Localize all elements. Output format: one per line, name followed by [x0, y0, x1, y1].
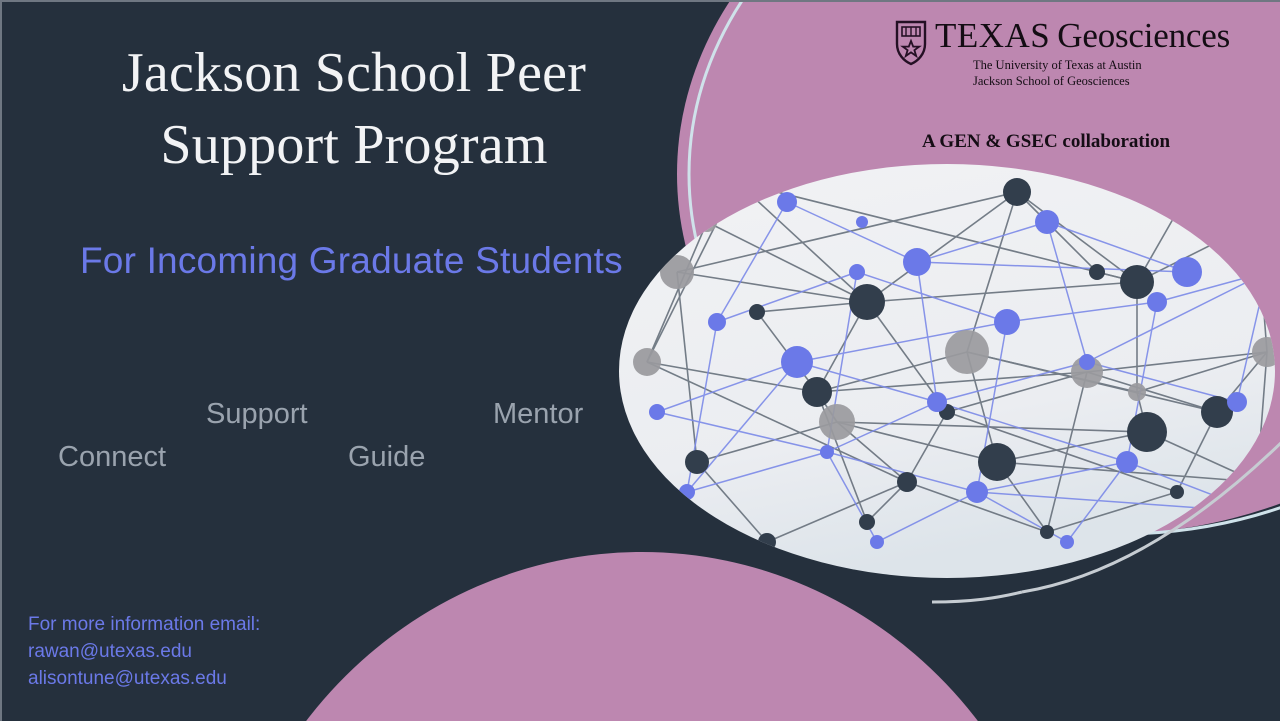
- wordmark-geosciences: Geosciences: [1057, 16, 1230, 55]
- collaboration-note: A GEN & GSEC collaboration: [922, 131, 1170, 153]
- network-nodes-graphic: [617, 162, 1277, 580]
- contact-email-1[interactable]: rawan@utexas.edu: [28, 639, 260, 666]
- keyword-mentor: Mentor: [493, 398, 583, 431]
- keyword-guide: Guide: [348, 441, 425, 474]
- keyword-support: Support: [206, 398, 308, 431]
- pale-curve-bottom-right-extend: [932, 592, 1022, 602]
- institution-line-2: Jackson School of Geosciences: [973, 73, 1230, 89]
- presentation-slide: Jackson School Peer Support Program For …: [0, 0, 1280, 721]
- contact-email-2[interactable]: alisontune@utexas.edu: [28, 666, 260, 693]
- contact-label: For more information email:: [28, 612, 260, 639]
- keyword-connect: Connect: [58, 441, 166, 474]
- contact-info: For more information email: rawan@utexas…: [28, 612, 260, 693]
- ut-geosciences-logo: TEXASGeosciences The University of Texas…: [895, 18, 1230, 89]
- institution-line-1: The University of Texas at Austin: [973, 57, 1230, 73]
- ut-shield-icon: [895, 20, 927, 66]
- wordmark-texas: TEXAS: [935, 16, 1050, 55]
